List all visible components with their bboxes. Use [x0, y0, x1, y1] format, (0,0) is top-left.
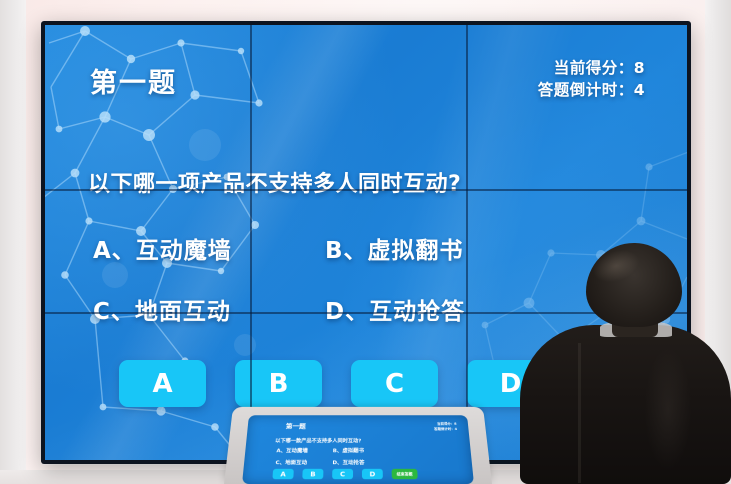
countdown-timer: 答题倒计时：4: [538, 79, 645, 101]
options-row-1: A、互动魔墙 B、虚拟翻书: [93, 221, 563, 282]
presenter-suit: [520, 325, 731, 484]
kiosk-options-row-2: C、地面互动D、互动抢答: [275, 459, 389, 466]
kiosk-question-title: 第一题: [286, 422, 306, 431]
kiosk-mirrored-content: 第一题 当前得分：8 答题倒计时：4 以下哪一款产品不支持多人同时互动? A、互…: [242, 415, 474, 484]
question-title: 第一题: [90, 61, 177, 100]
kiosk-option-b[interactable]: B、虚拟翻书: [333, 447, 389, 454]
kiosk-end-button[interactable]: 结束答题: [392, 469, 418, 479]
options-grid: A、互动魔墙 B、虚拟翻书 C、地面互动 D、互动抢答: [93, 221, 563, 343]
question-text: 以下哪一项产品不支持多人同时互动?: [88, 166, 461, 198]
option-d[interactable]: D、互动抢答: [325, 282, 465, 343]
option-c[interactable]: C、地面互动: [93, 282, 325, 343]
option-b[interactable]: B、虚拟翻书: [325, 221, 464, 282]
kiosk-option-d[interactable]: D、互动抢答: [332, 459, 389, 466]
kiosk-answer-button-a[interactable]: A: [272, 469, 293, 479]
kiosk-question-text: 以下哪一款产品不支持多人同时互动?: [275, 437, 361, 444]
presenter-figure: [520, 243, 731, 484]
kiosk-options-row-1: A、互动魔墙B、虚拟翻书: [276, 447, 389, 454]
current-score: 当前得分：8: [538, 57, 645, 79]
kiosk-option-c[interactable]: C、地面互动: [275, 459, 332, 466]
podium-kiosk[interactable]: 第一题 当前得分：8 答题倒计时：4 以下哪一款产品不支持多人同时互动? A、互…: [224, 398, 492, 484]
scene-root: 第一题 当前得分：8 答题倒计时：4 以下哪一项产品不支持多人同时互动? A、互…: [0, 0, 731, 484]
kiosk-answer-button-c[interactable]: C: [332, 469, 353, 479]
options-row-2: C、地面互动 D、互动抢答: [93, 282, 563, 343]
option-a[interactable]: A、互动魔墙: [93, 221, 325, 282]
kiosk-answer-button-d[interactable]: D: [362, 469, 383, 479]
kiosk-answer-button-b[interactable]: B: [302, 469, 323, 479]
answer-button-a[interactable]: A: [119, 360, 206, 407]
presenter-head: [586, 243, 682, 327]
kiosk-answer-button-row: A B C D 结束答题: [272, 469, 417, 479]
kiosk-touchscreen[interactable]: 第一题 当前得分：8 答题倒计时：4 以下哪一款产品不支持多人同时互动? A、互…: [242, 415, 474, 484]
kiosk-option-a[interactable]: A、互动魔墙: [276, 447, 333, 454]
kiosk-score-panel: 当前得分：8 答题倒计时：4: [434, 421, 458, 431]
score-panel: 当前得分：8 答题倒计时：4: [538, 57, 645, 101]
kiosk-countdown: 答题倒计时：4: [434, 426, 457, 431]
wall-strip-left: [0, 0, 26, 484]
